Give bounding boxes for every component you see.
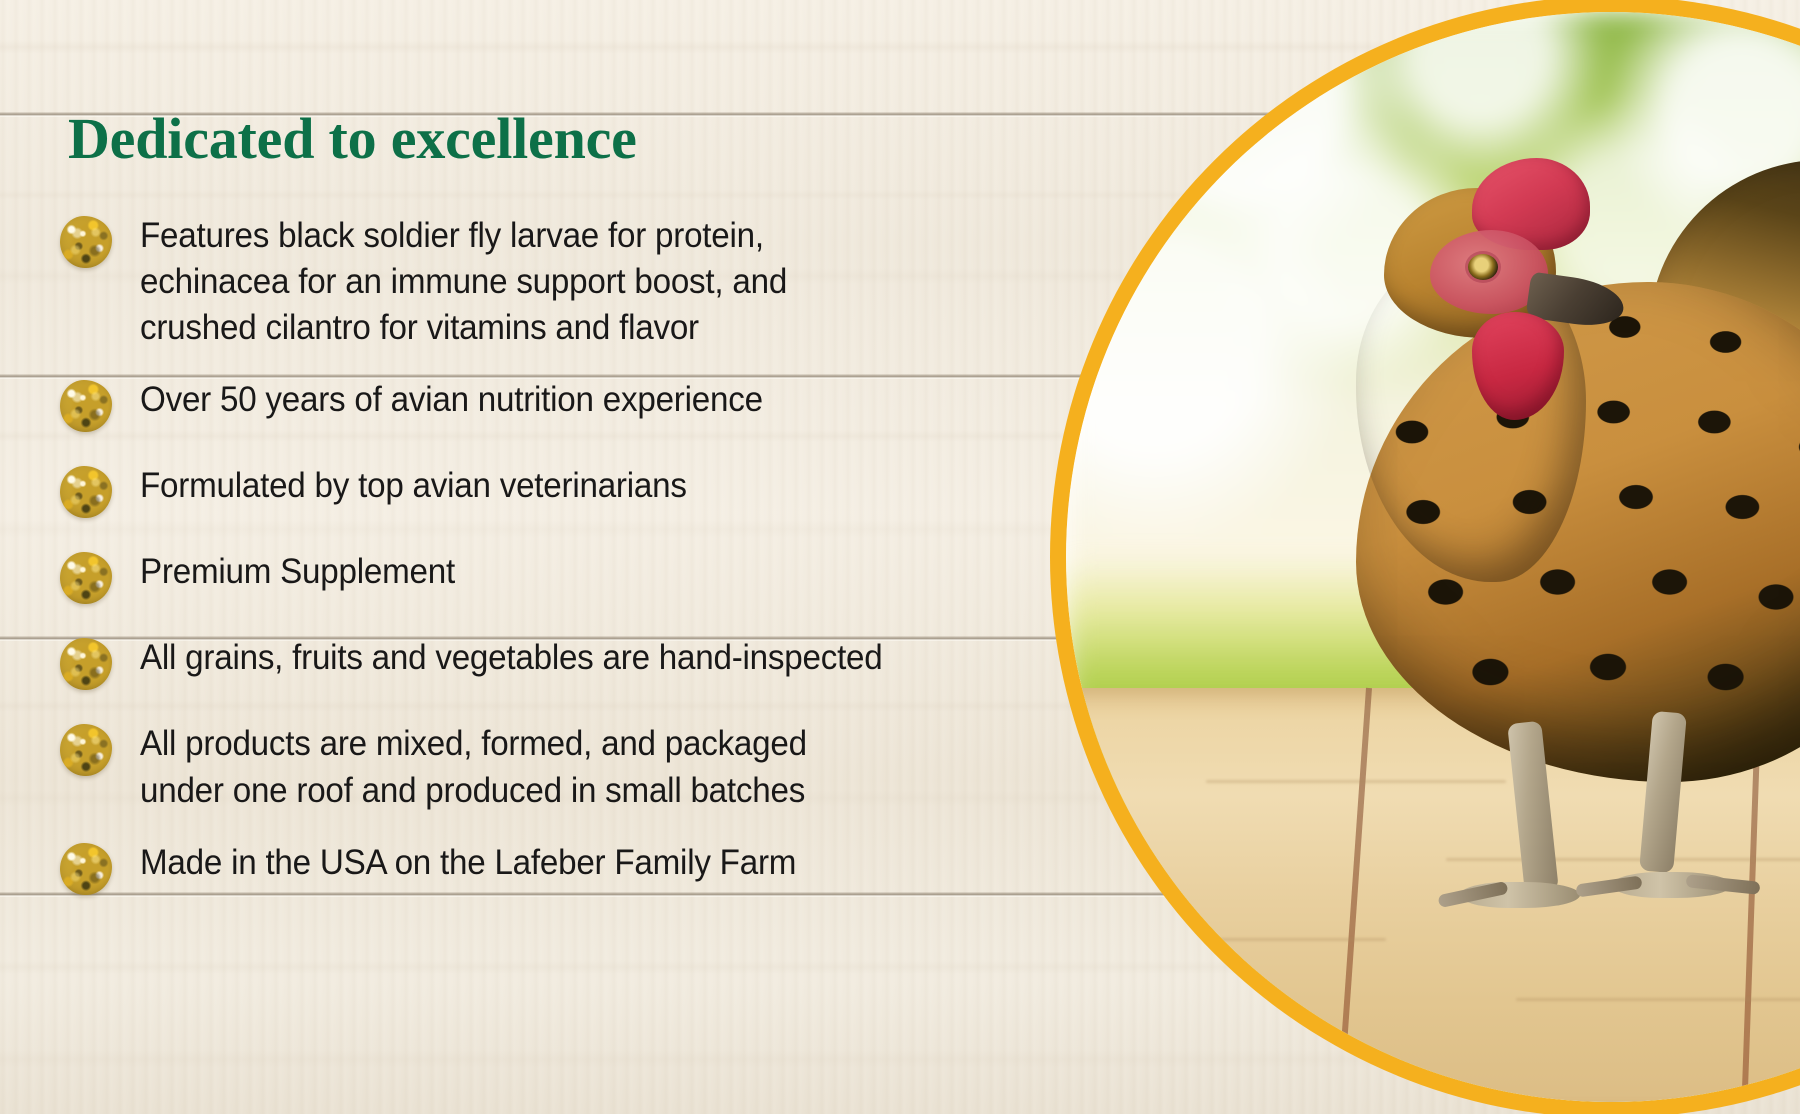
list-item-text: Formulated by top avian veterinarians	[140, 462, 687, 508]
infographic-canvas: Dedicated to excellence Features black s…	[0, 0, 1800, 1114]
list-item: Formulated by top avian veterinarians	[60, 462, 1020, 518]
list-item: All products are mixed, formed, and pack…	[60, 720, 1020, 812]
list-item-line: Formulated by top avian veterinarians	[140, 465, 687, 505]
list-item: Over 50 years of avian nutrition experie…	[60, 376, 1020, 432]
list-item-line: All grains, fruits and vegetables are ha…	[140, 637, 883, 677]
benefits-list: Features black soldier fly larvae for pr…	[60, 212, 1020, 895]
hen-eye	[1468, 254, 1498, 280]
list-item-text: Features black soldier fly larvae for pr…	[140, 212, 787, 350]
list-item-line: Premium Supplement	[140, 551, 455, 591]
list-item-line: Over 50 years of avian nutrition experie…	[140, 379, 763, 419]
granola-nugget-icon	[60, 638, 112, 690]
list-item-line: All products are mixed, formed, and pack…	[140, 723, 807, 763]
list-item-line: Features black soldier fly larvae for pr…	[140, 215, 764, 255]
list-item-text: All products are mixed, formed, and pack…	[140, 720, 807, 812]
granola-nugget-icon	[60, 216, 112, 268]
hen-photo-image	[1066, 12, 1800, 1102]
list-item-text: Over 50 years of avian nutrition experie…	[140, 376, 763, 422]
list-item-line: under one roof and produced in small bat…	[140, 770, 805, 810]
granola-nugget-icon	[60, 466, 112, 518]
hen-illustration	[1216, 102, 1800, 902]
list-item: Made in the USA on the Lafeber Family Fa…	[60, 839, 1020, 895]
granola-nugget-icon	[60, 380, 112, 432]
page-title: Dedicated to excellence	[68, 108, 637, 169]
hen-photo-circle	[1066, 12, 1800, 1102]
list-item: All grains, fruits and vegetables are ha…	[60, 634, 1020, 690]
list-item-text: Premium Supplement	[140, 548, 455, 594]
hen-photo-gold-ring	[1050, 0, 1800, 1114]
content-column: Dedicated to excellence Features black s…	[0, 0, 1060, 1114]
list-item-line: Made in the USA on the Lafeber Family Fa…	[140, 842, 796, 882]
list-item: Premium Supplement	[60, 548, 1020, 604]
granola-nugget-icon	[60, 843, 112, 895]
granola-nugget-icon	[60, 552, 112, 604]
list-item-text: All grains, fruits and vegetables are ha…	[140, 634, 883, 680]
list-item-text: Made in the USA on the Lafeber Family Fa…	[140, 839, 796, 885]
list-item-line: echinacea for an immune support boost, a…	[140, 261, 787, 301]
list-item-line: crushed cilantro for vitamins and flavor	[140, 307, 699, 347]
granola-nugget-icon	[60, 724, 112, 776]
list-item: Features black soldier fly larvae for pr…	[60, 212, 1020, 350]
